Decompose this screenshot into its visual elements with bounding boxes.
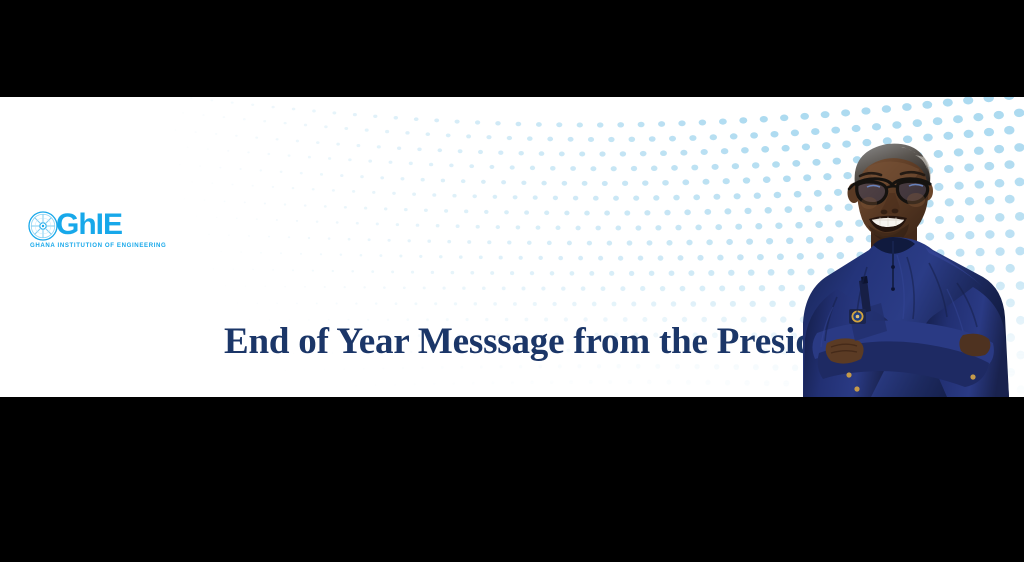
ghie-emblem-icon: [28, 211, 58, 241]
letterbox-top: [0, 0, 1024, 97]
letterbox-bottom: [0, 397, 1024, 562]
page-title: End of Year Messsage from the President: [224, 319, 824, 365]
hero-banner: GhIE GHANA INSTITUTION OF ENGINEERING En…: [0, 97, 1024, 397]
banner-stage: GhIE GHANA INSTITUTION OF ENGINEERING En…: [0, 0, 1024, 562]
ghie-logo[interactable]: GhIE GHANA INSTITUTION OF ENGINEERING: [26, 209, 156, 259]
ghie-wordmark: GhIE: [56, 209, 122, 241]
ghie-tagline: GHANA INSTITUTION OF ENGINEERING: [30, 242, 166, 249]
president-portrait: [797, 137, 1012, 397]
